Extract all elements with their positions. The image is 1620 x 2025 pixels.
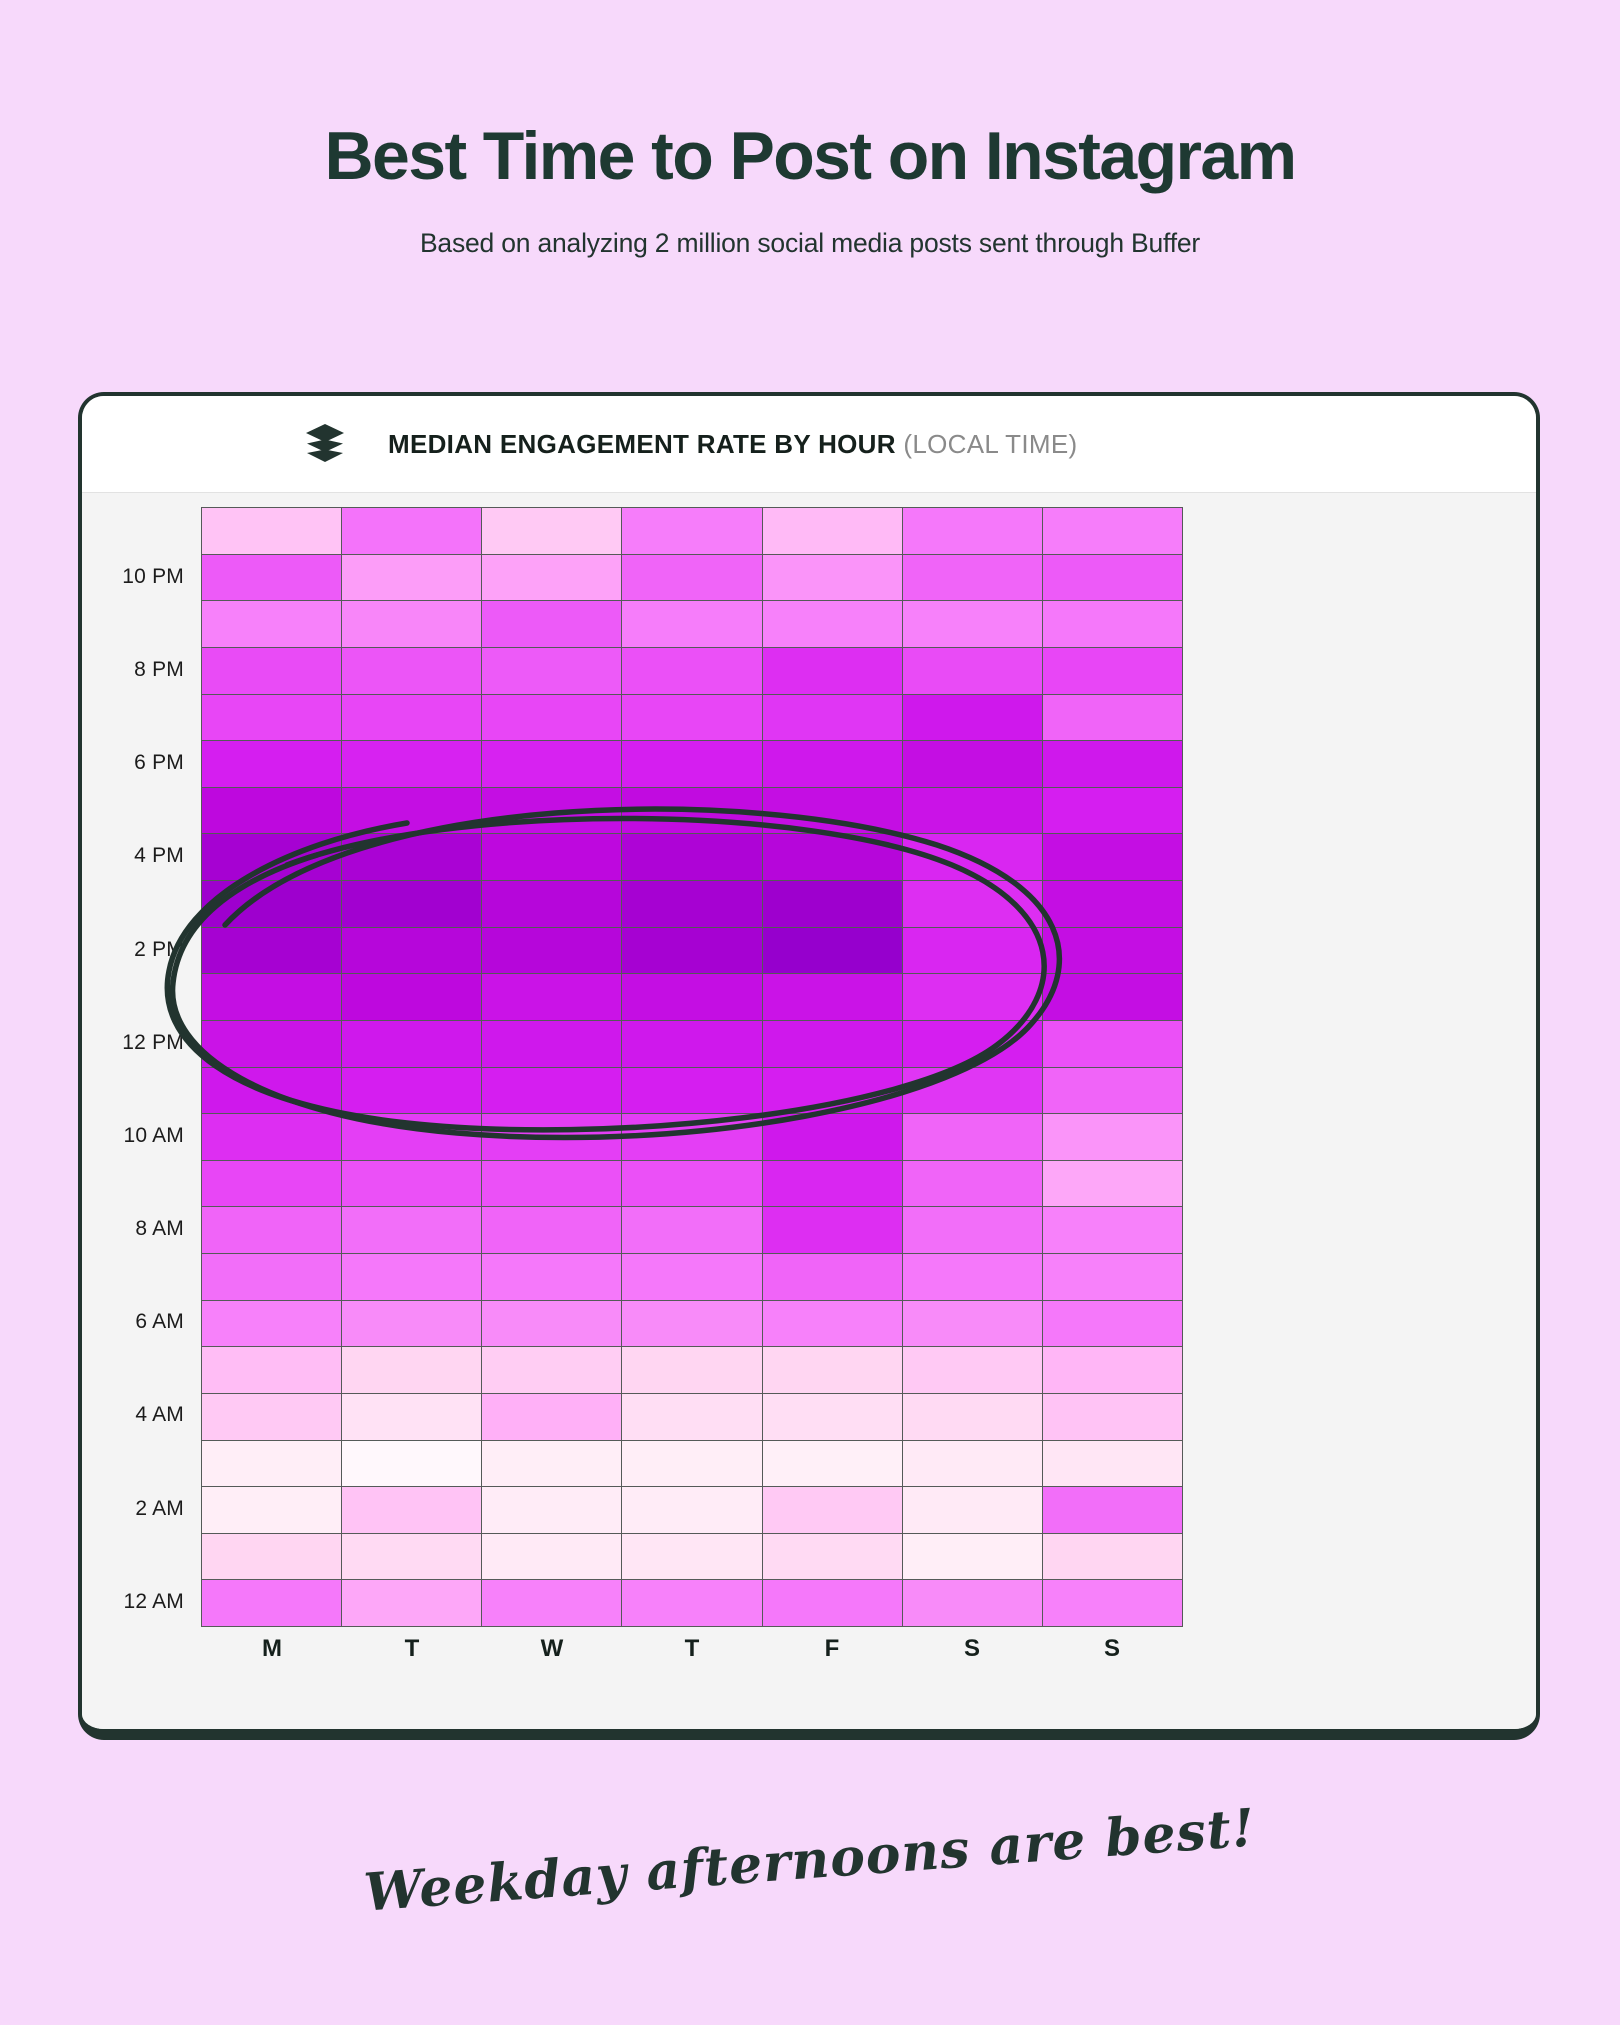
heatmap-cell: [763, 695, 902, 741]
heatmap-cell: [903, 1207, 1042, 1253]
heatmap-cell: [622, 974, 761, 1020]
heatmap-cell: [622, 1161, 761, 1207]
heatmap-cell: [482, 1394, 621, 1440]
heatmap-cell: [482, 1254, 621, 1300]
heatmap-cell: [1043, 834, 1182, 880]
heatmap-cell: [763, 1254, 902, 1300]
heatmap-cell: [903, 1254, 1042, 1300]
heatmap-cell: [342, 1441, 481, 1487]
x-axis-tick-label: T: [622, 1635, 762, 1663]
heatmap-cell: [482, 1347, 621, 1393]
heatmap-cell: [342, 695, 481, 741]
heatmap-cell: [342, 788, 481, 834]
heatmap-cell: [342, 1161, 481, 1207]
heatmap-cell: [763, 555, 902, 601]
heatmap-cell: [202, 1347, 341, 1393]
heatmap-cell: [202, 1301, 341, 1347]
heatmap-cell: [342, 1580, 481, 1626]
heatmap-cell: [903, 741, 1042, 787]
heatmap-cell: [763, 1441, 902, 1487]
heatmap-cell: [202, 1207, 341, 1253]
heatmap-cell: [622, 834, 761, 880]
y-axis-tick-label: 2 PM: [134, 938, 184, 962]
heatmap-cell: [622, 1021, 761, 1067]
heatmap-cell: [482, 555, 621, 601]
x-axis-tick-label: M: [202, 1635, 342, 1663]
heatmap-cell: [622, 1207, 761, 1253]
heatmap-cell: [1043, 1254, 1182, 1300]
chart-header-title-dim: (LOCAL TIME): [896, 429, 1078, 459]
footer-annotation: Weekday afternoons are best!: [0, 1830, 1620, 1891]
heatmap-cell: [622, 508, 761, 554]
heatmap-cell: [622, 1114, 761, 1160]
heatmap-cell: [903, 788, 1042, 834]
heatmap-cell: [903, 1580, 1042, 1626]
heatmap-cell: [342, 1394, 481, 1440]
heatmap-cell: [482, 834, 621, 880]
heatmap-cell: [1043, 1207, 1182, 1253]
y-axis-tick-label: 6 AM: [135, 1310, 184, 1334]
x-axis-tick-label: F: [762, 1635, 902, 1663]
heatmap-cell: [903, 601, 1042, 647]
x-axis-labels: MTWTFSS: [202, 1635, 1182, 1663]
heatmap-cell: [622, 555, 761, 601]
heatmap-cell: [202, 1394, 341, 1440]
heatmap-cell: [482, 1114, 621, 1160]
heatmap-cell: [342, 928, 481, 974]
heatmap-cell: [482, 1161, 621, 1207]
heatmap-cell: [1043, 741, 1182, 787]
heatmap-cell: [763, 1301, 902, 1347]
heatmap-cell: [903, 1301, 1042, 1347]
heatmap-cell: [342, 1347, 481, 1393]
heatmap-cell: [482, 1534, 621, 1580]
heatmap-cell: [763, 1394, 902, 1440]
y-axis-tick-label: 12 PM: [122, 1031, 184, 1055]
heatmap-cell: [622, 1441, 761, 1487]
heatmap-cell: [202, 974, 341, 1020]
heatmap-cell: [482, 1207, 621, 1253]
heatmap-cell: [1043, 1114, 1182, 1160]
heatmap-cell: [482, 601, 621, 647]
heatmap-cell: [482, 741, 621, 787]
heatmap-cell: [622, 1394, 761, 1440]
heatmap-cell: [202, 1580, 341, 1626]
heatmap-cell: [342, 648, 481, 694]
heatmap-cell: [342, 1207, 481, 1253]
x-axis-tick-label: S: [902, 1635, 1042, 1663]
heatmap-cell: [903, 1534, 1042, 1580]
heatmap-cell: [763, 1161, 902, 1207]
heatmap-cell: [342, 508, 481, 554]
heatmap-cell: [903, 508, 1042, 554]
heatmap-cell: [903, 1021, 1042, 1067]
heatmap-cell: [1043, 601, 1182, 647]
heatmap-cell: [1043, 928, 1182, 974]
heatmap-cell: [1043, 1394, 1182, 1440]
heatmap-cell: [622, 1534, 761, 1580]
heatmap-cell: [763, 1207, 902, 1253]
heatmap-cell: [622, 1487, 761, 1533]
heatmap-cell: [202, 1114, 341, 1160]
heatmap-cell: [763, 881, 902, 927]
heatmap-cell: [202, 601, 341, 647]
heatmap-cell: [342, 601, 481, 647]
heatmap-cell: [342, 974, 481, 1020]
heatmap-cell: [903, 834, 1042, 880]
heatmap-cell: [202, 648, 341, 694]
y-axis-tick-label: 2 AM: [135, 1497, 184, 1521]
heatmap-cell: [482, 928, 621, 974]
heatmap-cell: [202, 1068, 341, 1114]
heatmap-cell: [1043, 1441, 1182, 1487]
heatmap-cell: [1043, 1161, 1182, 1207]
heatmap-cell: [202, 741, 341, 787]
heatmap-cell: [342, 555, 481, 601]
heatmap-cell: [763, 1487, 902, 1533]
heatmap-cell: [622, 601, 761, 647]
heatmap-cell: [342, 834, 481, 880]
heatmap-cell: [622, 1301, 761, 1347]
page-title: Best Time to Post on Instagram: [0, 122, 1620, 190]
y-axis-tick-label: 8 AM: [135, 1217, 184, 1241]
heatmap-cell: [622, 1347, 761, 1393]
heatmap-cell: [622, 1068, 761, 1114]
heatmap-cell: [1043, 1347, 1182, 1393]
heatmap-cell: [763, 648, 902, 694]
heatmap-cell: [482, 788, 621, 834]
heatmap-cell: [622, 928, 761, 974]
heatmap-cell: [482, 1068, 621, 1114]
heatmap-cell: [903, 695, 1042, 741]
heatmap-cell: [763, 1068, 902, 1114]
heatmap-cell: [903, 1161, 1042, 1207]
heatmap-cell: [763, 928, 902, 974]
heatmap-cell: [1043, 1580, 1182, 1626]
heatmap-cell: [763, 1534, 902, 1580]
heatmap-cell: [1043, 788, 1182, 834]
heatmap-cell: [1043, 648, 1182, 694]
heatmap-cell: [482, 881, 621, 927]
y-axis-tick-label: 6 PM: [134, 751, 184, 775]
heatmap-cell: [482, 974, 621, 1020]
heatmap-cell: [202, 1161, 341, 1207]
heatmap-cell: [342, 1021, 481, 1067]
y-axis-tick-label: 4 AM: [135, 1403, 184, 1427]
heatmap-cell: [342, 1534, 481, 1580]
heatmap-cell: [342, 1254, 481, 1300]
heatmap-cell: [622, 881, 761, 927]
heatmap-cell: [903, 928, 1042, 974]
handwritten-caption: Weekday afternoons are best!: [362, 1797, 1258, 1923]
heatmap-cell: [1043, 1534, 1182, 1580]
heatmap-cell: [202, 1021, 341, 1067]
heatmap-cell: [1043, 1487, 1182, 1533]
y-axis-tick-label: 4 PM: [134, 844, 184, 868]
heatmap-cell: [763, 788, 902, 834]
chart-body: 10 PM8 PM6 PM4 PM2 PM12 PM10 AM8 AM6 AM4…: [82, 493, 1536, 1733]
heatmap-cell: [202, 834, 341, 880]
heatmap-cell: [202, 928, 341, 974]
heatmap-cell: [903, 1068, 1042, 1114]
heatmap-cell: [763, 1021, 902, 1067]
heatmap-cell: [342, 1114, 481, 1160]
heatmap-cell: [482, 508, 621, 554]
heatmap-cell: [763, 1347, 902, 1393]
heatmap-cell: [202, 1487, 341, 1533]
heatmap-cell: [1043, 974, 1182, 1020]
heatmap-cell: [1043, 555, 1182, 601]
heatmap-cell: [763, 1580, 902, 1626]
heatmap-cell: [763, 1114, 902, 1160]
chart-header-title-main: MEDIAN ENGAGEMENT RATE BY HOUR: [388, 429, 896, 459]
heatmap-cell: [903, 974, 1042, 1020]
heatmap-cell: [903, 1441, 1042, 1487]
heatmap-cell: [1043, 881, 1182, 927]
heatmap-cell: [763, 601, 902, 647]
chart-card-header: MEDIAN ENGAGEMENT RATE BY HOUR (LOCAL TI…: [82, 396, 1536, 493]
chart-card: MEDIAN ENGAGEMENT RATE BY HOUR (LOCAL TI…: [78, 392, 1540, 1740]
heatmap-cell: [903, 1394, 1042, 1440]
x-axis-tick-label: W: [482, 1635, 622, 1663]
y-axis-tick-label: 12 AM: [123, 1590, 184, 1614]
heatmap-cell: [202, 1254, 341, 1300]
heatmap-cell: [1043, 695, 1182, 741]
heatmap-cell: [1043, 1068, 1182, 1114]
heatmap-cell: [202, 1534, 341, 1580]
heatmap-cell: [342, 1068, 481, 1114]
heatmap-cell: [482, 648, 621, 694]
heatmap-cell: [482, 1487, 621, 1533]
x-axis-tick-label: S: [1042, 1635, 1182, 1663]
heatmap-cell: [763, 741, 902, 787]
chart-header-title: MEDIAN ENGAGEMENT RATE BY HOUR (LOCAL TI…: [388, 429, 1077, 460]
heatmap-grid: [201, 507, 1183, 1627]
heatmap-cell: [903, 1347, 1042, 1393]
heatmap-cell: [763, 834, 902, 880]
heatmap-cell: [903, 555, 1042, 601]
heatmap-cell: [482, 695, 621, 741]
heatmap-cell: [1043, 508, 1182, 554]
heatmap-cell: [622, 695, 761, 741]
heatmap-cell: [1043, 1301, 1182, 1347]
heatmap-cell: [903, 1114, 1042, 1160]
heatmap-cell: [202, 555, 341, 601]
heatmap-cell: [482, 1580, 621, 1626]
heatmap-cell: [903, 881, 1042, 927]
buffer-layers-icon: [302, 421, 348, 467]
heatmap-cell: [482, 1301, 621, 1347]
heatmap-cell: [763, 974, 902, 1020]
x-axis-tick-label: T: [342, 1635, 482, 1663]
y-axis-labels: 10 PM8 PM6 PM4 PM2 PM12 PM10 AM8 AM6 AM4…: [82, 507, 192, 1625]
heatmap-cell: [622, 1254, 761, 1300]
heatmap-cell: [342, 1487, 481, 1533]
heatmap-cell: [342, 1301, 481, 1347]
heatmap-cell: [482, 1021, 621, 1067]
heatmap-cell: [622, 788, 761, 834]
heatmap-cell: [202, 508, 341, 554]
y-axis-tick-label: 10 PM: [122, 565, 184, 589]
heatmap-cell: [763, 508, 902, 554]
y-axis-tick-label: 10 AM: [123, 1124, 184, 1148]
heatmap-cell: [482, 1441, 621, 1487]
heatmap-cell: [202, 881, 341, 927]
heatmap-cell: [342, 881, 481, 927]
header-block: Best Time to Post on Instagram Based on …: [0, 0, 1620, 259]
heatmap-cell: [622, 648, 761, 694]
heatmap-cell: [202, 788, 341, 834]
y-axis-tick-label: 8 PM: [134, 658, 184, 682]
heatmap-cell: [342, 741, 481, 787]
heatmap-cell: [622, 1580, 761, 1626]
page-subtitle: Based on analyzing 2 million social medi…: [0, 190, 1620, 259]
heatmap-cell: [1043, 1021, 1182, 1067]
heatmap-cell: [622, 741, 761, 787]
heatmap-cell: [903, 1487, 1042, 1533]
heatmap-cell: [903, 648, 1042, 694]
heatmap-cell: [202, 695, 341, 741]
heatmap-cell: [202, 1441, 341, 1487]
